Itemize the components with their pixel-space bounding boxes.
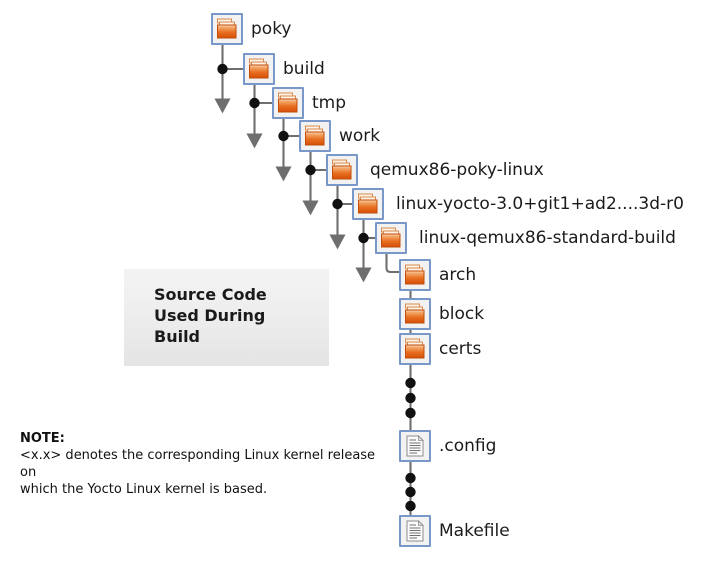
node-label: work bbox=[339, 124, 380, 148]
node-label: qemux86-poky-linux bbox=[370, 158, 544, 182]
source-code-panel: Source Code Used During Build bbox=[124, 269, 329, 366]
file-icon bbox=[399, 430, 431, 462]
folder-icon bbox=[272, 87, 304, 119]
note-body: <x.x> denotes the corresponding Linux ke… bbox=[20, 447, 380, 498]
folder-icon bbox=[399, 259, 431, 291]
folder-icon bbox=[211, 13, 243, 45]
node-label: tmp bbox=[312, 91, 346, 115]
directory-tree-diagram: Source Code Used During Build poky bbox=[0, 0, 705, 581]
folder-icon bbox=[243, 53, 275, 85]
node-label: build bbox=[283, 57, 325, 81]
node-label: linux-yocto-3.0+git1+ad2....3d-r0 bbox=[396, 192, 684, 216]
folder-icon bbox=[375, 222, 407, 254]
ellipsis-dots-lower bbox=[405, 473, 415, 511]
node-label: Makefile bbox=[439, 519, 510, 543]
file-icon bbox=[399, 515, 431, 547]
folder-icon bbox=[299, 120, 331, 152]
note-title: NOTE: bbox=[20, 430, 380, 447]
ellipsis-dots-upper bbox=[405, 378, 415, 418]
note-block: NOTE: <x.x> denotes the corresponding Li… bbox=[20, 430, 380, 498]
folder-icon bbox=[352, 188, 384, 220]
folder-icon bbox=[399, 333, 431, 365]
node-label: block bbox=[439, 302, 484, 326]
node-label: poky bbox=[251, 17, 292, 41]
folder-icon bbox=[326, 154, 358, 186]
node-label: arch bbox=[439, 263, 476, 287]
folder-icon bbox=[399, 298, 431, 330]
source-code-panel-text: Source Code Used During Build bbox=[154, 284, 267, 347]
node-label: certs bbox=[439, 337, 481, 361]
node-label: .config bbox=[439, 434, 496, 458]
node-label: linux-qemux86-standard-build bbox=[419, 226, 676, 250]
